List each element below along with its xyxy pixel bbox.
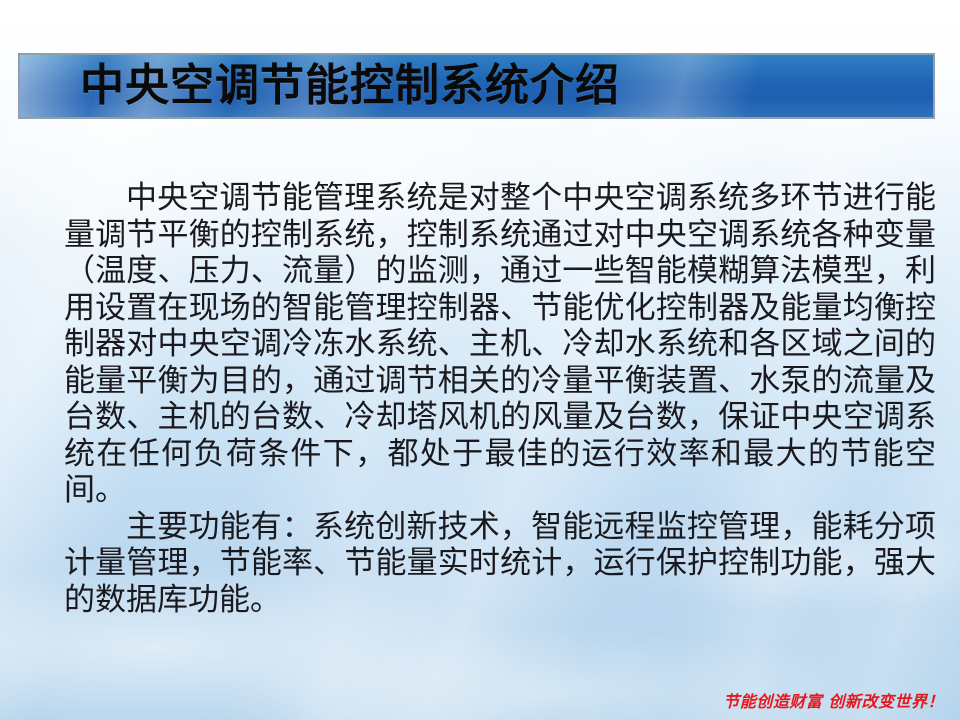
slide-title: 中央空调节能控制系统介绍 [80,64,620,108]
presentation-slide: 中央空调节能控制系统介绍 中央空调节能管理系统是对整个中央空调系统多环节进行能量… [0,0,960,720]
slide-title-banner: 中央空调节能控制系统介绍 [18,53,935,119]
slide-body: 中央空调节能管理系统是对整个中央空调系统多环节进行能量调节平衡的控制系统，控制系… [64,180,936,618]
footer-slogan: 节能创造财富 创新改变世界！ [723,694,944,710]
body-paragraph-1: 中央空调节能管理系统是对整个中央空调系统多环节进行能量调节平衡的控制系统，控制系… [64,180,936,509]
body-paragraph-2: 主要功能有：系统创新技术，智能远程监控管理，能耗分项计量管理，节能率、节能量实时… [64,509,936,619]
